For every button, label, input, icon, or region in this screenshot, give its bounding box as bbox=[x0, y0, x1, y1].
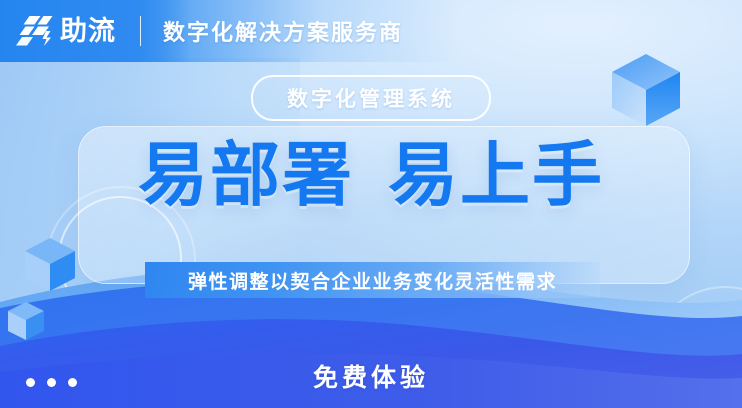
headline-part-2: 易上手 bbox=[388, 136, 604, 214]
headline-part-1: 易部署 bbox=[138, 136, 354, 214]
cube-icon-top-right bbox=[608, 52, 684, 130]
free-trial-cta[interactable]: 免费体验 bbox=[0, 358, 742, 394]
header-slogan: 数字化解决方案服务商 bbox=[163, 15, 403, 47]
carousel-dot[interactable] bbox=[68, 378, 77, 387]
subtitle-pill: 数字化管理系统 bbox=[251, 75, 491, 121]
brand-divider bbox=[140, 16, 141, 46]
hero-headline: 易部署易上手 bbox=[0, 140, 742, 210]
carousel-dot[interactable] bbox=[26, 378, 35, 387]
carousel-dot[interactable] bbox=[47, 378, 56, 387]
zhuliu-logo-icon bbox=[16, 11, 56, 51]
brand-name: 助流 bbox=[60, 18, 116, 45]
cube-icon-bottom-left bbox=[6, 300, 46, 342]
carousel-indicator[interactable] bbox=[26, 378, 77, 387]
promo-banner: 助流 数字化解决方案服务商 数字化管理系统 易部署易上手 弹性调整以契合企业业务… bbox=[0, 0, 742, 408]
